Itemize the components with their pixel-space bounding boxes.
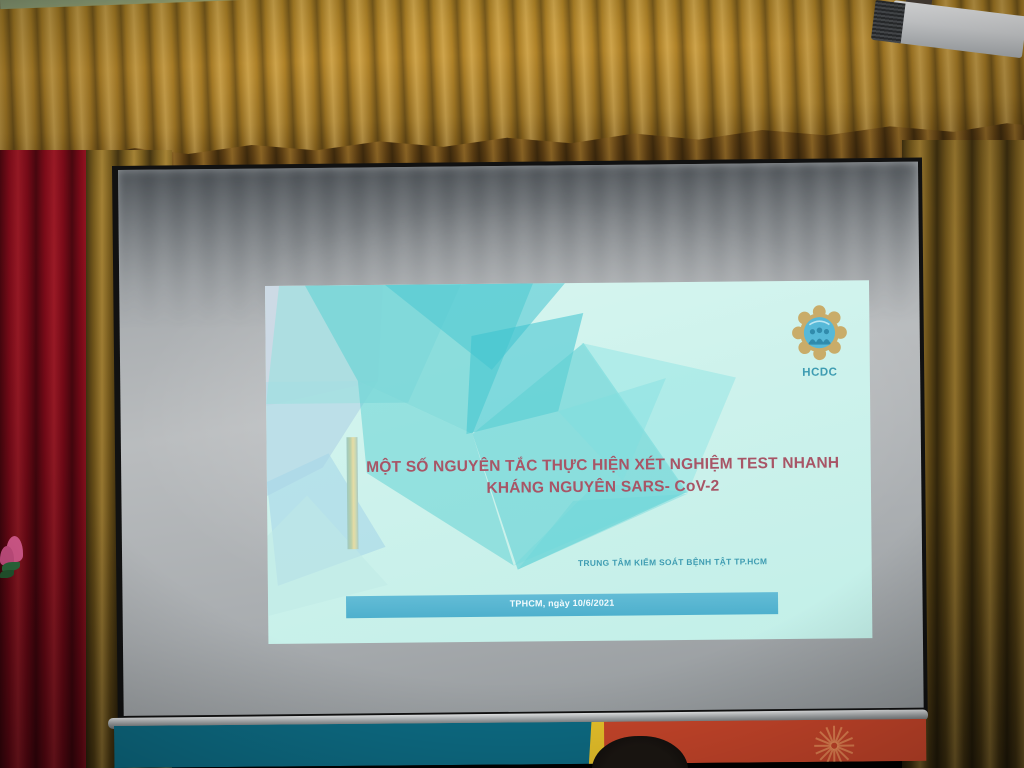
banner-teal-panel	[114, 722, 594, 768]
hcdc-logo: HCDC	[791, 304, 848, 379]
stage-banner	[114, 719, 926, 768]
sunburst-ray	[814, 745, 831, 747]
presentation-slide: MỘT SỐ NGUYÊN TẮC THỰC HIỆN XÉT NGHIỆM T…	[265, 280, 872, 644]
photo-scene: MỘT SỐ NGUYÊN TẮC THỰC HIỆN XÉT NGHIỆM T…	[0, 0, 1024, 768]
hcdc-emblem-icon	[791, 304, 848, 361]
flower-decoration	[0, 530, 34, 586]
projector-vent	[871, 0, 906, 43]
hcdc-logo-text: HCDC	[792, 366, 848, 379]
flower-leaf	[0, 570, 14, 578]
virus-sunburst-icon	[814, 726, 854, 766]
slide-title: MỘT SỐ NGUYÊN TẮC THỰC HIỆN XÉT NGHIỆM T…	[345, 452, 861, 501]
sunburst-ray	[833, 749, 835, 766]
